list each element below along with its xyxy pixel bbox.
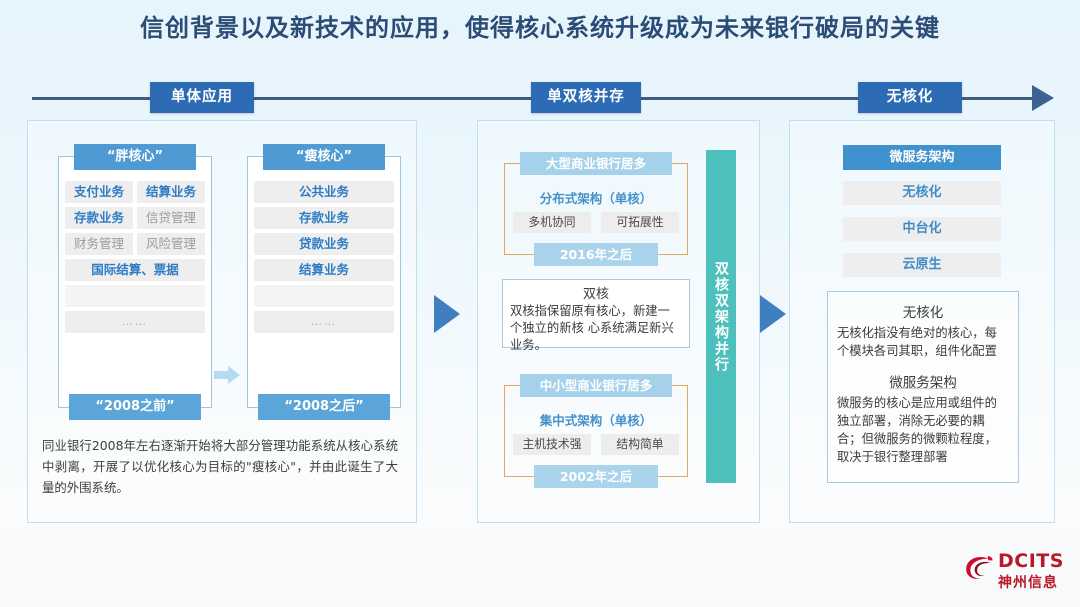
panel-dual-core: 大型商业银行居多 分布式架构（单核） 多机协同 可拓展性 2016年之后 双核 …	[477, 120, 760, 523]
core-column-fat-header: “胖核心”	[74, 144, 196, 170]
core-cell-ellipsis: ……	[65, 311, 205, 333]
core-cell[interactable]: 结算业务	[137, 181, 205, 203]
note-title-2: 微服务架构	[828, 371, 1018, 391]
block-tag[interactable]: 结构简单	[601, 434, 679, 455]
core-column-thin: “瘦核心” 公共业务 存款业务 贷款业务 结算业务 …… “2008之后”	[247, 156, 401, 408]
brand-logo: DCITS 神州信息	[962, 548, 1070, 594]
core-column-fat-cells: 支付业务 结算业务 存款业务 信贷管理 财务管理 风险管理 国际结算、票据 ……	[65, 181, 205, 333]
note-body-1: 无核化指没有绝对的核心，每个模块各司其职，组件化配置	[837, 324, 1009, 360]
dual-core-vertical-bar-label: 双核双架构并行	[706, 150, 736, 483]
core-column-thin-header: “瘦核心”	[263, 144, 385, 170]
dual-core-vertical-bar: 双核双架构并行	[706, 150, 736, 483]
block-tag[interactable]: 主机技术强	[513, 434, 591, 455]
timeline-stage-2[interactable]: 单双核并存	[531, 82, 641, 113]
arrow-right-icon	[434, 295, 460, 333]
coreless-header: 微服务架构	[843, 145, 1001, 170]
core-cell-blank	[65, 285, 205, 307]
coreless-item[interactable]: 云原生	[843, 253, 1001, 277]
block-footer: 2016年之后	[534, 243, 658, 266]
note-title: 双核	[503, 283, 689, 302]
block-tags: 主机技术强 结构简单	[513, 434, 679, 455]
arrow-right-icon	[214, 364, 240, 386]
block-header: 中小型商业银行居多	[520, 374, 672, 397]
block-tag[interactable]: 可拓展性	[601, 212, 679, 233]
timeline-stage-3[interactable]: 无核化	[858, 82, 962, 113]
dcits-swirl-icon	[962, 551, 996, 585]
note-title-1: 无核化	[828, 301, 1018, 321]
page-title: 信创背景以及新技术的应用，使得核心系统升级成为未来银行破局的关键	[0, 8, 1080, 43]
arrow-right-icon	[1032, 85, 1054, 111]
brand-name-cn: 神州信息	[998, 572, 1058, 592]
block-tags: 多机协同 可拓展性	[513, 212, 679, 233]
coreless-item[interactable]: 无核化	[843, 181, 1001, 205]
core-column-thin-cells: 公共业务 存款业务 贷款业务 结算业务 ……	[254, 181, 394, 333]
core-cell[interactable]: 风险管理	[137, 233, 205, 255]
core-cell[interactable]: 结算业务	[254, 259, 394, 281]
core-column-fat-footer: “2008之前”	[69, 394, 201, 420]
core-column-fat: “胖核心” 支付业务 结算业务 存款业务 信贷管理 财务管理 风险管理 国际结算…	[58, 156, 212, 408]
block-footer: 2002年之后	[534, 465, 658, 488]
arrow-right-icon	[760, 295, 786, 333]
core-cell-ellipsis: ……	[254, 311, 394, 333]
core-cell[interactable]: 支付业务	[65, 181, 133, 203]
timeline-stage-1[interactable]: 单体应用	[150, 82, 254, 113]
core-cell[interactable]: 贷款业务	[254, 233, 394, 255]
dual-core-note: 双核 双核指保留原有核心，新建一个独立的新核 心系统满足新兴业务。	[502, 279, 690, 348]
core-cell[interactable]: 信贷管理	[137, 207, 205, 229]
slide-root: 信创背景以及新技术的应用，使得核心系统升级成为未来银行破局的关键 单体应用 单双…	[0, 0, 1080, 607]
block-tag[interactable]: 多机协同	[513, 212, 591, 233]
block-header: 大型商业银行居多	[520, 152, 672, 175]
core-cell[interactable]: 国际结算、票据	[65, 259, 205, 281]
note-body: 双核指保留原有核心，新建一个独立的新核 心系统满足新兴业务。	[510, 303, 682, 354]
coreless-note: 无核化 无核化指没有绝对的核心，每个模块各司其职，组件化配置 微服务架构 微服务…	[827, 291, 1019, 483]
core-cell[interactable]: 存款业务	[254, 207, 394, 229]
block-subtitle: 集中式架构（单核）	[505, 410, 687, 429]
core-cell[interactable]: 公共业务	[254, 181, 394, 203]
block-subtitle: 分布式架构（单核）	[505, 188, 687, 207]
brand-name: DCITS	[998, 550, 1064, 572]
note-body-2: 微服务的核心是应用或组件的独立部署，消除无必要的耦合；但微服务的微颗粒程度，取决…	[837, 394, 1009, 466]
dual-core-block-small-bank: 中小型商业银行居多 集中式架构（单核） 主机技术强 结构简单 2002年之后	[504, 385, 688, 477]
coreless-item[interactable]: 中台化	[843, 217, 1001, 241]
timeline: 单体应用 单双核并存 无核化	[0, 82, 1080, 114]
core-column-thin-footer: “2008之后”	[258, 394, 390, 420]
core-cell[interactable]: 财务管理	[65, 233, 133, 255]
core-cell[interactable]: 存款业务	[65, 207, 133, 229]
panel-coreless: 微服务架构 无核化 中台化 云原生 无核化 无核化指没有绝对的核心，每个模块各司…	[789, 120, 1055, 523]
panel-monolithic: “胖核心” 支付业务 结算业务 存款业务 信贷管理 财务管理 风险管理 国际结算…	[27, 120, 417, 523]
dual-core-block-large-bank: 大型商业银行居多 分布式架构（单核） 多机协同 可拓展性 2016年之后	[504, 163, 688, 255]
core-cell-blank	[254, 285, 394, 307]
panel-monolithic-description: 同业银行2008年左右逐渐开始将大部分管理功能系统从核心系统中剥离，开展了以优化…	[42, 435, 398, 498]
